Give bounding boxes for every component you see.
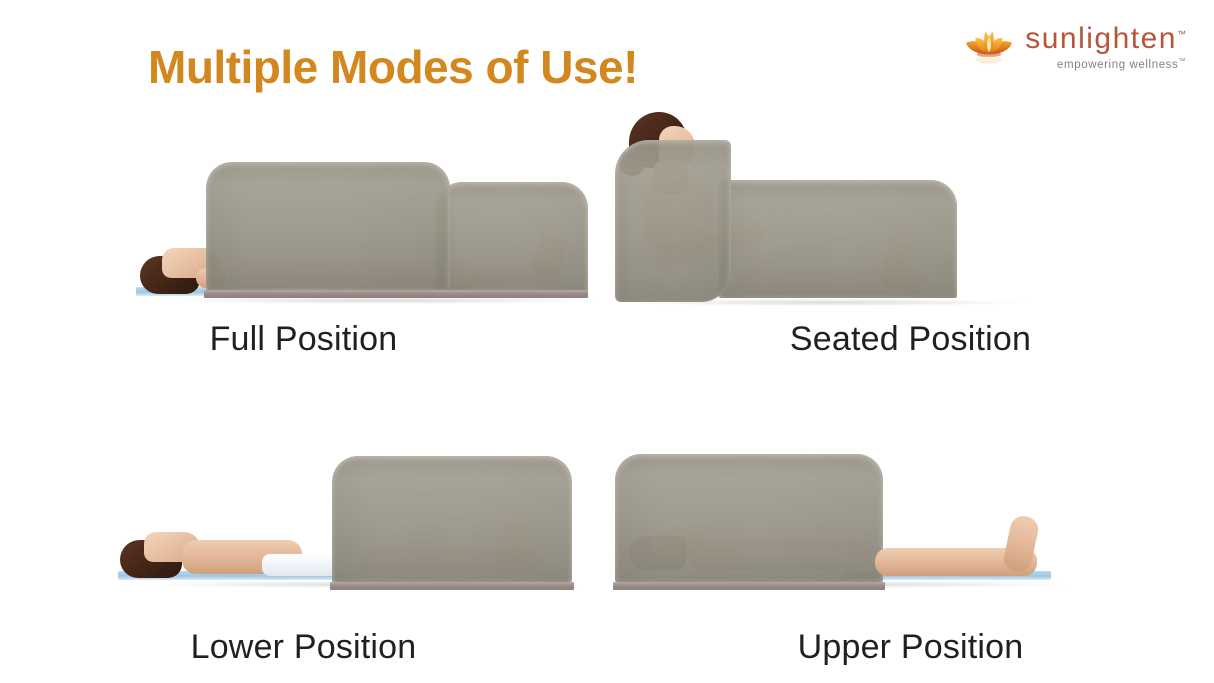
- mode-cell-seated-position: Seated Position: [607, 78, 1214, 386]
- figure-upper-position: [607, 386, 1214, 624]
- brand-tagline: empowering wellness™: [1025, 58, 1186, 71]
- mode-cell-full-position: Full Position: [0, 78, 607, 386]
- dome-section-legs: [719, 180, 957, 298]
- mode-cell-upper-position: Upper Position: [607, 386, 1214, 683]
- modes-grid: Full Position Seated: [0, 78, 1214, 678]
- mode-caption-full-position: Full Position: [210, 322, 398, 356]
- figure-seated-position: [607, 78, 1214, 316]
- dome-section-upper: [615, 454, 883, 582]
- figure-lower-position: [0, 386, 607, 624]
- slide-canvas: Multiple Modes of Use!: [0, 0, 1214, 683]
- brand-name: sunlighten™: [1025, 24, 1186, 54]
- dome-rail-rear: [436, 290, 588, 298]
- mode-caption-lower-position: Lower Position: [191, 630, 417, 664]
- dome-rail-front: [204, 290, 454, 298]
- dome-section-front: [206, 162, 450, 290]
- figure-full-position: [0, 78, 607, 316]
- brand-trademark: ™: [1177, 29, 1186, 39]
- lotus-flower-icon: [963, 18, 1015, 70]
- brand-name-text: sunlighten: [1025, 22, 1177, 55]
- brand-tagline-text: empowering wellness: [1057, 59, 1178, 71]
- brand-wordmark: sunlighten™ empowering wellness™: [1025, 18, 1186, 71]
- mode-caption-seated-position: Seated Position: [790, 322, 1031, 356]
- tagline-trademark: ™: [1178, 58, 1186, 65]
- dome-section-lower: [332, 456, 572, 582]
- dome-rail-lower: [330, 582, 574, 590]
- mode-caption-upper-position: Upper Position: [798, 630, 1024, 664]
- floor-shadow: [170, 297, 600, 304]
- dome-section-rear: [436, 182, 588, 292]
- dome-rail-upper: [613, 582, 885, 590]
- dome-panel-back: [615, 140, 731, 302]
- brand-logo: sunlighten™ empowering wellness™: [963, 18, 1186, 71]
- mode-cell-lower-position: Lower Position: [0, 386, 607, 683]
